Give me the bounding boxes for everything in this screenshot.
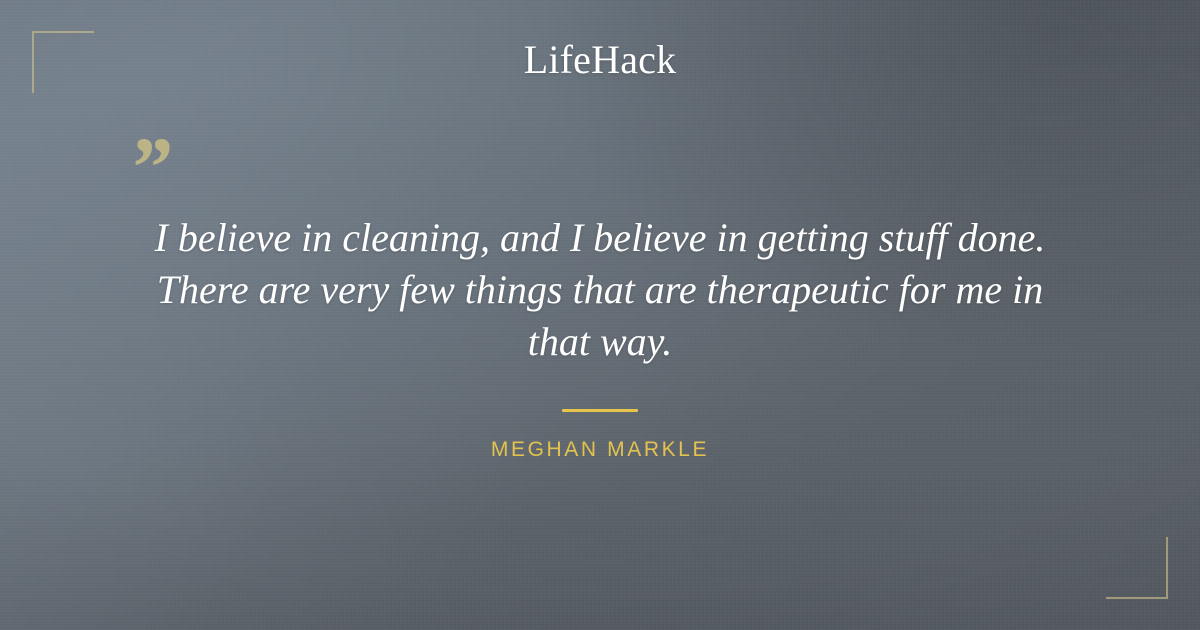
quote-line: I believe in cleaning, and I believe in … bbox=[110, 212, 1090, 264]
divider-rule bbox=[562, 409, 638, 412]
quote-line: There are very few things that are thera… bbox=[110, 264, 1090, 316]
quote-text: I believe in cleaning, and I believe in … bbox=[110, 212, 1090, 368]
quote-line: that way. bbox=[110, 316, 1090, 368]
quotation-mark-icon: ” bbox=[128, 124, 171, 210]
quote-card: LifeHack ” I believe in cleaning, and I … bbox=[0, 0, 1200, 630]
quote-author: MEGHAN MARKLE bbox=[0, 438, 1200, 462]
card-content: LifeHack ” I believe in cleaning, and I … bbox=[0, 0, 1200, 630]
brand-logo: LifeHack bbox=[0, 38, 1200, 82]
